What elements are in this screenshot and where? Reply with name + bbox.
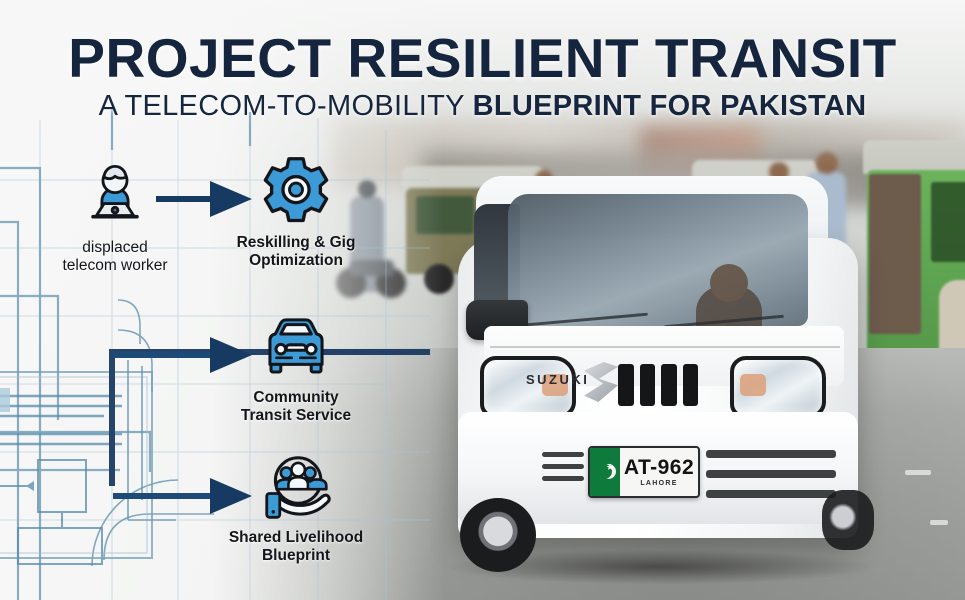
license-plate-number: AT-962 <box>624 457 694 478</box>
node-label-line2: telecom worker <box>62 257 167 274</box>
node-displaced-telecom-worker: displaced telecom worker <box>48 160 182 276</box>
car-suzuki-wordmark: SUZUKI <box>526 372 589 387</box>
car-lower-grille-left <box>542 452 584 457</box>
node-label-line1: Reskilling & Gig <box>237 234 356 251</box>
car-rear-wheel <box>822 490 874 550</box>
pakistan-flag-icon <box>590 448 620 496</box>
car-lower-grille-left <box>542 476 584 481</box>
car-hood-seam <box>490 346 840 348</box>
car-lower-grille-right <box>706 450 836 458</box>
car-lower-grille-left <box>542 464 584 469</box>
node-label-line2: Transit Service <box>241 407 351 424</box>
node-label-line2: Optimization <box>249 252 343 269</box>
node-community-transit-service: Community Transit Service <box>216 310 376 426</box>
node-shared-livelihood-blueprint: Shared Livelihood Blueprint <box>212 450 380 566</box>
car-lower-grille-right <box>706 490 836 498</box>
node-label: displaced telecom worker <box>48 239 182 276</box>
photo-road-marking <box>905 470 931 475</box>
node-label: Reskilling & Gig Optimization <box>216 234 376 271</box>
person-at-laptop-icon <box>80 162 150 232</box>
car-front-wheel <box>460 498 536 572</box>
car-upper-grille <box>618 364 698 406</box>
node-label-line2: Blueprint <box>262 547 330 564</box>
car-windshield <box>508 194 808 326</box>
car-lower-grille-right <box>706 470 836 478</box>
hand-holding-people-icon <box>257 452 335 522</box>
photo-road-marking <box>930 520 948 525</box>
subtitle-part-light: A TELECOM-TO-MOBILITY <box>99 90 473 122</box>
car-license-plate: AT-962 LAHORE <box>588 446 700 498</box>
gear-icon <box>258 154 334 230</box>
node-label: Community Transit Service <box>216 389 376 426</box>
node-reskilling-gig-optimization: Reskilling & Gig Optimization <box>216 155 376 271</box>
car-headlight-right <box>730 356 826 418</box>
car-headlight-left <box>480 356 576 418</box>
license-plate-city: LAHORE <box>640 480 677 487</box>
page-subtitle: A TELECOM-TO-MOBILITY BLUEPRINT FOR PAKI… <box>0 90 965 123</box>
node-label-line1: Community <box>253 389 338 406</box>
photo-white-suzuki-alto: SUZUKI AT-962 LAHORE <box>430 150 890 570</box>
infographic-canvas: SUZUKI AT-962 LAHORE <box>0 0 965 600</box>
node-label-line1: displaced <box>82 239 148 256</box>
node-label-line1: Shared Livelihood <box>229 529 363 546</box>
subtitle-part-bold: BLUEPRINT FOR PAKISTAN <box>473 90 867 122</box>
node-label: Shared Livelihood Blueprint <box>212 529 380 566</box>
car-front-icon <box>258 314 334 380</box>
page-title: PROJECT RESILIENT TRANSIT <box>0 26 965 90</box>
